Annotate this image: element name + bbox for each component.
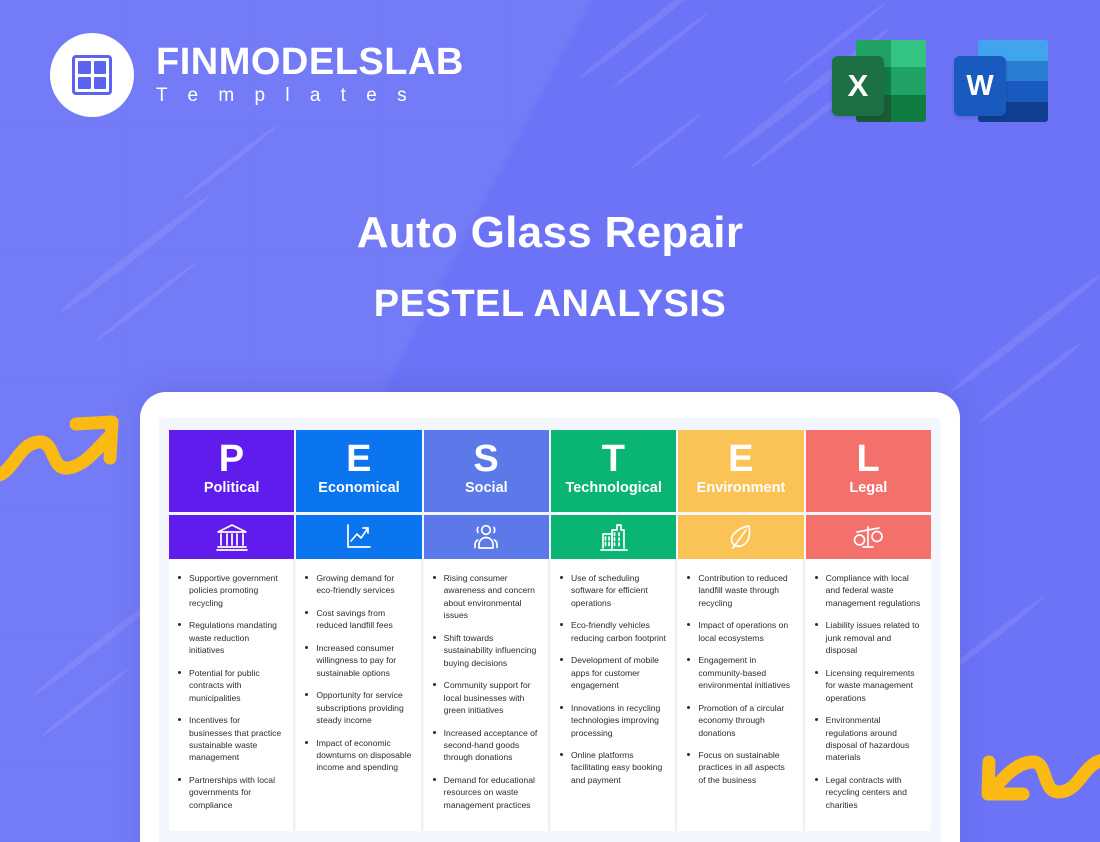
- pestel-label: Economical: [318, 481, 399, 496]
- scales-balance-icon: [806, 515, 931, 559]
- bullet-item: Liability issues related to junk removal…: [813, 619, 922, 656]
- bullet-item: Legal contracts with recycling centers a…: [813, 774, 922, 811]
- factory-building-icon: [551, 515, 676, 559]
- bullet-list: Compliance with local and federal waste …: [813, 572, 922, 811]
- office-format-icons: X W: [832, 28, 1048, 122]
- bullet-list: Use of scheduling software for efficient…: [558, 572, 666, 786]
- bullet-item: Focus on sustainable practices in all as…: [685, 749, 793, 786]
- bullet-list: Supportive government policies promoting…: [176, 572, 284, 811]
- background-brush-stroke: [977, 341, 1083, 426]
- bank-columns-icon: [169, 515, 294, 559]
- poster-canvas: FINMODELSLAB T e m p l a t e s X W Auto …: [0, 0, 1100, 842]
- bullet-item: Compliance with local and federal waste …: [813, 572, 922, 609]
- pestel-label: Technological: [565, 481, 661, 496]
- pestel-column-legal: L Legal Compliance with local a: [806, 430, 931, 831]
- bullet-item: Use of scheduling software for efficient…: [558, 572, 666, 609]
- bullet-item: Development of mobile apps for customer …: [558, 654, 666, 691]
- pestel-label: Political: [204, 481, 260, 496]
- squiggly-arrow-down-left-icon: [971, 748, 1100, 840]
- word-icon-letter: W: [954, 56, 1006, 116]
- pestel-label: Environment: [697, 481, 786, 496]
- people-group-icon: [424, 515, 549, 559]
- pestel-column-environment: E Environment Contribution to reduced la…: [678, 430, 803, 831]
- pestel-body-legal: Compliance with local and federal waste …: [806, 559, 931, 831]
- background-brush-stroke: [611, 12, 709, 90]
- bullet-item: Incentives for businesses that practice …: [176, 714, 284, 764]
- logo-subtitle: T e m p l a t e s: [156, 85, 464, 107]
- pestel-letter: E: [346, 440, 372, 478]
- background-brush-stroke: [40, 667, 130, 739]
- background-brush-stroke: [181, 124, 279, 202]
- pestel-body-economical: Growing demand for eco-friendly services…: [296, 559, 421, 831]
- pestel-column-political: P Political Supportive government polici…: [169, 430, 294, 831]
- pestel-header-political[interactable]: P Political: [169, 430, 294, 512]
- pestel-body-technological: Use of scheduling software for efficient…: [551, 559, 676, 831]
- bullet-item: Rising consumer awareness and concern ab…: [431, 572, 539, 622]
- bullet-item: Eco-friendly vehicles reducing carbon fo…: [558, 619, 666, 644]
- pestel-header-social[interactable]: S Social: [424, 430, 549, 512]
- tablet-screen: P Political Supportive government polici…: [159, 418, 941, 842]
- pestel-letter: P: [219, 440, 245, 478]
- grid-squares-icon: [72, 55, 112, 95]
- pestel-analysis-table: P Political Supportive government polici…: [169, 430, 931, 831]
- bullet-item: Supportive government policies promoting…: [176, 572, 284, 609]
- bullet-item: Community support for local businesses w…: [431, 679, 539, 716]
- bullet-item: Cost savings from reduced landfill fees: [303, 607, 411, 632]
- bullet-item: Engagement in community-based environmen…: [685, 654, 793, 691]
- background-brush-stroke: [577, 0, 723, 82]
- pestel-letter: T: [602, 440, 626, 478]
- bullet-item: Environmental regulations around disposa…: [813, 714, 922, 764]
- bullet-list: Growing demand for eco-friendly services…: [303, 572, 411, 774]
- bullet-item: Licensing requirements for waste managem…: [813, 667, 922, 704]
- bullet-item: Increased consumer willingness to pay fo…: [303, 642, 411, 679]
- pestel-column-technological: T Technological Use of scheduli: [551, 430, 676, 831]
- logo-wordmark: FINMODELSLAB T e m p l a t e s: [156, 43, 464, 108]
- bullet-list: Rising consumer awareness and concern ab…: [431, 572, 539, 811]
- pestel-column-social: S Social Rising consumer awareness and c…: [424, 430, 549, 831]
- leaf-icon: [678, 515, 803, 559]
- bullet-item: Increased acceptance of second-hand good…: [431, 727, 539, 764]
- pestel-header-technological[interactable]: T Technological: [551, 430, 676, 512]
- page-subtitle: PESTEL ANALYSIS: [0, 279, 1100, 330]
- bullet-item: Shift towards sustainability influencing…: [431, 632, 539, 669]
- bullet-item: Innovations in recycling technologies im…: [558, 702, 666, 739]
- bullet-item: Regulations mandating waste reduction in…: [176, 619, 284, 656]
- pestel-header-economical[interactable]: E Economical: [296, 430, 421, 512]
- pestel-letter: L: [856, 440, 880, 478]
- line-chart-icon: [296, 515, 421, 559]
- bullet-item: Promotion of a circular economy through …: [685, 702, 793, 739]
- excel-icon-letter: X: [832, 56, 884, 116]
- pestel-body-environment: Contribution to reduced landfill waste t…: [678, 559, 803, 831]
- pestel-header-legal[interactable]: L Legal: [806, 430, 931, 512]
- squiggly-arrow-up-right-icon: [0, 398, 127, 498]
- background-brush-stroke: [628, 113, 701, 172]
- pestel-letter: S: [473, 440, 499, 478]
- logo-title: FINMODELSLAB: [156, 43, 464, 83]
- bullet-item: Impact of economic downturns on disposab…: [303, 737, 411, 774]
- page-title: Auto Glass Repair: [0, 205, 1100, 260]
- bullet-list: Contribution to reduced landfill waste t…: [685, 572, 793, 786]
- pestel-letter: E: [728, 440, 754, 478]
- bullet-item: Opportunity for service subscriptions pr…: [303, 689, 411, 726]
- bullet-item: Demand for educational resources on wast…: [431, 774, 539, 811]
- bullet-item: Contribution to reduced landfill waste t…: [685, 572, 793, 609]
- bullet-item: Online platforms facilitating easy booki…: [558, 749, 666, 786]
- pestel-column-economical: E Economical Growing demand for eco-frie…: [296, 430, 421, 831]
- logo-circle-badge: [50, 33, 134, 117]
- pestel-header-environment[interactable]: E Environment: [678, 430, 803, 512]
- pestel-body-political: Supportive government policies promoting…: [169, 559, 294, 831]
- brand-logo[interactable]: FINMODELSLAB T e m p l a t e s: [50, 33, 464, 117]
- pestel-body-social: Rising consumer awareness and concern ab…: [424, 559, 549, 831]
- tablet-mockup: P Political Supportive government polici…: [140, 392, 960, 842]
- bullet-item: Partnerships with local governments for …: [176, 774, 284, 811]
- pestel-label: Legal: [849, 481, 887, 496]
- bullet-item: Potential for public contracts with muni…: [176, 667, 284, 704]
- bullet-item: Growing demand for eco-friendly services: [303, 572, 411, 597]
- word-icon[interactable]: W: [954, 28, 1048, 122]
- bullet-item: Impact of operations on local ecosystems: [685, 619, 793, 644]
- excel-icon[interactable]: X: [832, 28, 926, 122]
- pestel-label: Social: [465, 481, 508, 496]
- poster-headings: Auto Glass Repair PESTEL ANALYSIS: [0, 205, 1100, 330]
